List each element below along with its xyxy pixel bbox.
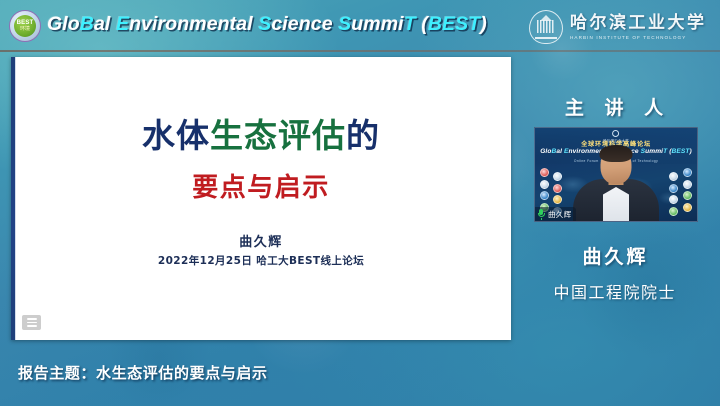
video-bg-logo bbox=[669, 184, 678, 193]
video-bg-logo bbox=[683, 203, 692, 212]
video-bg-logo bbox=[540, 168, 549, 177]
speaker-name: 曲久辉 bbox=[516, 242, 712, 269]
microphone-icon bbox=[537, 209, 545, 220]
slide-title-part-1: 水体 bbox=[142, 116, 210, 155]
hit-name-en: HARBIN INSTITUTE OF TECHNOLOGY bbox=[570, 35, 707, 40]
video-bg-logo-column-right bbox=[683, 168, 692, 212]
footer-topic: 报告主题：水生态评估的要点与启示 bbox=[18, 362, 268, 383]
title-segment: E bbox=[116, 13, 129, 35]
title-segment: cience bbox=[271, 13, 338, 35]
title-segment: BEST bbox=[672, 148, 690, 155]
header-bar: BEST 环境 GloBal Environmental Science Sum… bbox=[0, 0, 720, 52]
video-bg-logo-column-left bbox=[540, 168, 549, 212]
slide-title-part-3: 的 bbox=[346, 116, 380, 155]
video-bg-logo bbox=[669, 207, 678, 216]
title-segment: al bbox=[556, 148, 564, 155]
speaker-title: 中国工程院院士 bbox=[516, 279, 712, 303]
slide-author: 曲久辉 bbox=[11, 231, 511, 250]
video-bg-logo bbox=[553, 172, 562, 181]
best-logo-icon: BEST 环境 bbox=[9, 10, 41, 42]
title-segment: nvironmental bbox=[129, 13, 258, 35]
video-bg-logo bbox=[683, 180, 692, 189]
video-bg-logo bbox=[683, 168, 692, 177]
title-segment: T bbox=[404, 13, 416, 35]
hit-name-cn: 哈尔滨工业大学 bbox=[570, 14, 707, 32]
hamburger-menu-icon[interactable] bbox=[22, 315, 41, 330]
title-segment: BEST bbox=[428, 13, 480, 35]
best-logo-text-bottom: 环境 bbox=[20, 27, 30, 32]
video-bg-logo bbox=[540, 191, 549, 200]
slide-date-venue: 2022年12月25日 哈工大BEST线上论坛 bbox=[11, 253, 511, 268]
speaker-video-tile[interactable]: 哈尔滨工业大学 全球环境科学高峰论坛 GloBal Environmental … bbox=[534, 127, 698, 222]
title-segment: ummi bbox=[351, 13, 403, 35]
title-segment: B bbox=[80, 13, 94, 35]
video-bg-logo bbox=[669, 195, 678, 204]
video-bg-logo bbox=[553, 184, 562, 193]
video-bg-logo-column-right-inner bbox=[669, 172, 678, 216]
presentation-stage: BEST 环境 GloBal Environmental Science Sum… bbox=[0, 0, 720, 406]
video-participant-name: 曲久辉 bbox=[548, 209, 571, 220]
title-segment: S bbox=[338, 13, 351, 35]
slide-area[interactable]: 水体生态评估的 要点与启示 曲久辉 2022年12月25日 哈工大BEST线上论… bbox=[11, 57, 511, 340]
hit-emblem-icon bbox=[528, 9, 564, 45]
title-segment: ( bbox=[416, 13, 428, 35]
title-segment: Glo bbox=[540, 148, 551, 155]
video-bg-logo bbox=[553, 195, 562, 204]
slide-title-line2: 要点与启示 bbox=[11, 175, 511, 201]
video-bg-logo bbox=[540, 180, 549, 189]
speaker-panel: 主 讲 人 哈尔滨工业大学 全球环境科学高峰论坛 GloBal Environm… bbox=[516, 57, 716, 347]
video-bg-logo bbox=[669, 172, 678, 181]
title-segment: al bbox=[94, 13, 116, 35]
title-segment: ) bbox=[480, 13, 487, 35]
title-segment: S bbox=[258, 13, 271, 35]
speaker-video-person bbox=[573, 145, 659, 221]
video-bg-logo bbox=[683, 191, 692, 200]
title-segment: Glo bbox=[47, 13, 80, 35]
video-name-bar: 曲久辉 bbox=[535, 207, 576, 221]
hit-university-logo: 哈尔滨工业大学 HARBIN INSTITUTE OF TECHNOLOGY bbox=[528, 6, 714, 48]
speaker-section-label: 主 讲 人 bbox=[516, 93, 712, 120]
best-logo-inner: BEST 环境 bbox=[14, 15, 36, 37]
slide-title-line1: 水体生态评估的 bbox=[11, 119, 511, 152]
title-segment: ) bbox=[690, 148, 692, 155]
conference-title: GloBal Environmental Science SummiT (BES… bbox=[47, 13, 487, 36]
slide-title-part-2: 生态评估 bbox=[210, 116, 346, 155]
